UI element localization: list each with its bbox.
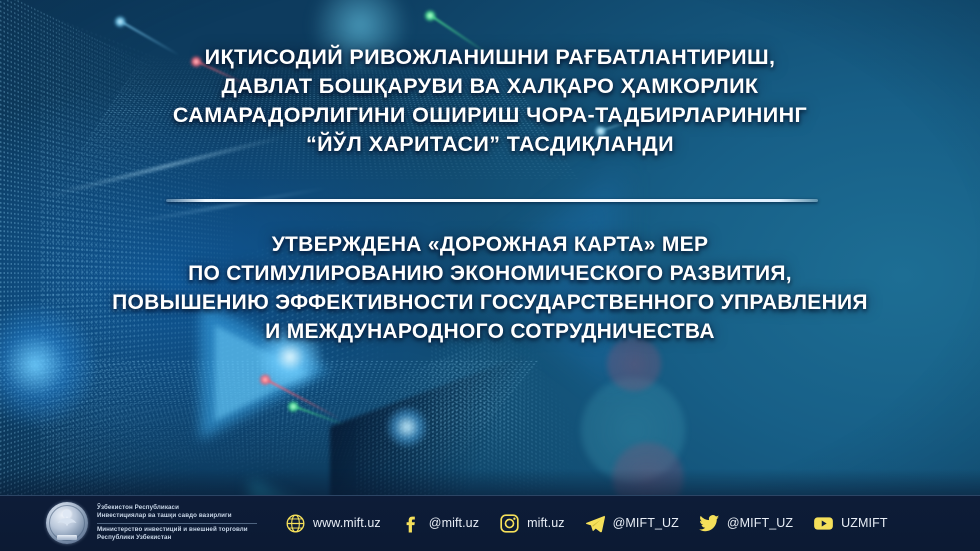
ministry-text: Ўзбекистон Республикаси Инвестициялар ва…	[97, 504, 257, 542]
comet-blue-1	[120, 20, 121, 22]
bokeh-circle-teal	[578, 375, 688, 485]
glow-orb-mid	[385, 405, 429, 449]
uzbekistan-state-emblem-icon	[46, 502, 88, 544]
ministry-uz-line-2: Инвестициялар ва ташқи савдо вазирлиги	[97, 512, 257, 520]
social-link-instagram[interactable]: mift.uz	[499, 513, 565, 534]
social-label-instagram: mift.uz	[527, 516, 565, 530]
humo-bird-icon	[57, 514, 77, 528]
ministry-ru-line-2: Республики Узбекистан	[97, 534, 257, 542]
social-label-twitter: @MIFT_UZ	[727, 516, 793, 530]
led-floor-dots	[0, 360, 540, 463]
headline-russian-line-1: УТВЕРЖДЕНА «ДОРОЖНАЯ КАРТА» МЕР	[0, 230, 980, 259]
instagram-icon	[499, 513, 520, 534]
social-label-website: www.mift.uz	[313, 516, 381, 530]
headline-uzbek-line-4: “ЙЎЛ ХАРИТАСИ” ТАСДИҚЛАНДИ	[0, 130, 980, 159]
headline-russian-line-2: ПО СТИМУЛИРОВАНИЮ ЭКОНОМИЧЕСКОГО РАЗВИТИ…	[0, 259, 980, 288]
headline-russian-line-4: И МЕЖДУНАРОДНОГО СОТРУДНИЧЕСТВА	[0, 317, 980, 346]
presentation-slide: ИҚТИСОДИЙ РИВОЖЛАНИШНИ РАҒБАТЛАНТИРИШ, Д…	[0, 0, 980, 551]
social-link-telegram[interactable]: @MIFT_UZ	[585, 513, 679, 534]
headline-uzbek: ИҚТИСОДИЙ РИВОЖЛАНИШНИ РАҒБАТЛАНТИРИШ, Д…	[0, 43, 980, 159]
social-link-twitter[interactable]: @MIFT_UZ	[699, 513, 793, 534]
social-label-facebook: @mift.uz	[429, 516, 479, 530]
globe-icon	[285, 513, 306, 534]
comet-green-2	[293, 405, 294, 407]
social-links: www.mift.uz @mift.uz mift.uz	[285, 513, 908, 534]
headline-russian: УТВЕРЖДЕНА «ДОРОЖНАЯ КАРТА» МЕР ПО СТИМУ…	[0, 230, 980, 346]
twitter-icon	[699, 513, 720, 534]
social-link-website[interactable]: www.mift.uz	[285, 513, 381, 534]
headline-uzbek-line-3: САМАРАДОРЛИГИНИ ОШИРИШ ЧОРА-ТАДБИРЛАРИНИ…	[0, 101, 980, 130]
youtube-icon	[813, 513, 834, 534]
ministry-uz-line-1: Ўзбекистон Республикаси	[97, 504, 257, 512]
social-label-youtube: UZMIFT	[841, 516, 887, 530]
headline-uzbek-line-2: ДАВЛАТ БОШҚАРУВИ ВА ХАЛҚАРО ҲАМКОРЛИК	[0, 72, 980, 101]
footer-bar: Ўзбекистон Республикаси Инвестициялар ва…	[0, 495, 980, 551]
headline-russian-line-3: ПОВЫШЕНИЮ ЭФФЕКТИВНОСТИ ГОСУДАРСТВЕННОГО…	[0, 288, 980, 317]
light-streak-2	[121, 187, 328, 225]
social-link-facebook[interactable]: @mift.uz	[401, 513, 479, 534]
social-label-telegram: @MIFT_UZ	[613, 516, 679, 530]
comet-green-1	[429, 14, 430, 16]
ministry-branding: Ўзбекистон Республикаси Инвестициялар ва…	[46, 502, 257, 544]
comet-red-1	[265, 378, 266, 380]
social-link-youtube[interactable]: UZMIFT	[813, 513, 887, 534]
telegram-icon	[585, 513, 606, 534]
footer-top-divider	[0, 495, 980, 496]
facebook-icon	[401, 513, 422, 534]
ministry-rule	[97, 523, 257, 524]
bottom-fade	[0, 469, 980, 495]
headline-divider	[166, 199, 818, 202]
ministry-ru-line-1: Министерство инвестиций и внешней торгов…	[97, 526, 257, 534]
headline-uzbek-line-1: ИҚТИСОДИЙ РИВОЖЛАНИШНИ РАҒБАТЛАНТИРИШ,	[0, 43, 980, 72]
